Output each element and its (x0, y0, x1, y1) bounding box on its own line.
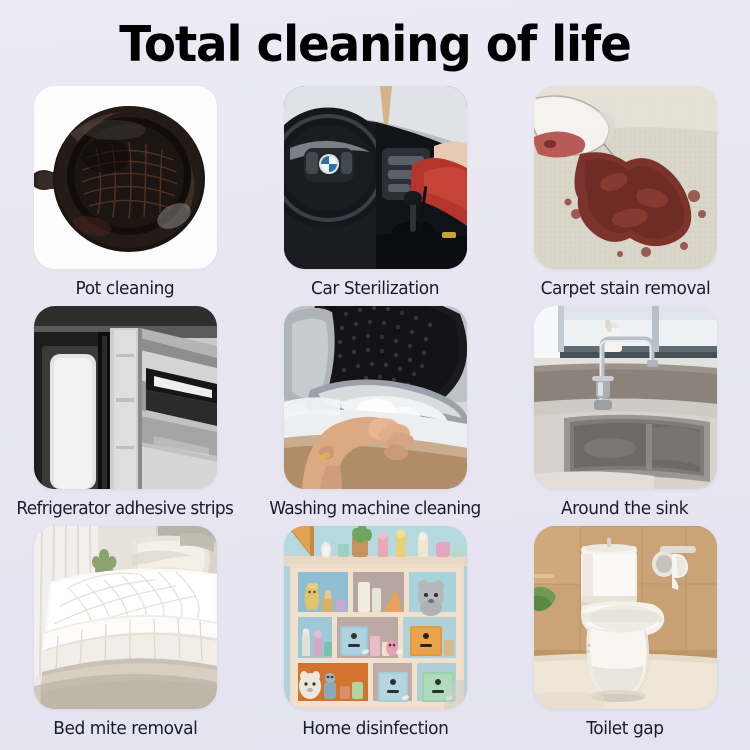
image-card-carpet-stain-removal[interactable] (534, 86, 717, 269)
grid-cell-pot-cleaning[interactable]: Pot cleaning (0, 86, 250, 306)
grid-cell-car-sterilization[interactable]: Car Sterilization (250, 86, 500, 306)
mattress-bed-icon (34, 526, 217, 709)
refrigerator-seal-icon (34, 306, 217, 489)
caption-car-sterilization: Car Sterilization (311, 278, 439, 300)
grid-cell-carpet-stain-removal[interactable]: Carpet stain removal (500, 86, 750, 306)
caption-around-the-sink: Around the sink (561, 498, 688, 520)
grid-cell-toilet-gap[interactable]: Toilet gap (500, 526, 750, 746)
grid-cell-washing-machine-cleaning[interactable]: Washing machine cleaning (250, 306, 500, 526)
burnt-pan-icon (34, 86, 217, 269)
grid-cell-around-the-sink[interactable]: Around the sink (500, 306, 750, 526)
image-card-bed-mite-removal[interactable] (34, 526, 217, 709)
image-card-car-sterilization[interactable] (284, 86, 467, 269)
image-card-pot-cleaning[interactable] (34, 86, 217, 269)
caption-washing-machine-cleaning: Washing machine cleaning (269, 498, 480, 520)
caption-pot-cleaning: Pot cleaning (76, 278, 175, 300)
washing-machine-gasket-icon (284, 306, 467, 489)
grid-cell-refrigerator-adhesive-strips[interactable]: Refrigerator adhesive strips (0, 306, 250, 526)
caption-refrigerator-adhesive-strips: Refrigerator adhesive strips (17, 498, 234, 520)
caption-bed-mite-removal: Bed mite removal (53, 718, 197, 740)
toilet-bathroom-icon (534, 526, 717, 709)
kitchen-sink-faucet-icon (534, 306, 717, 489)
caption-carpet-stain-removal: Carpet stain removal (540, 278, 710, 300)
image-card-around-the-sink[interactable] (534, 306, 717, 489)
image-card-refrigerator-adhesive-strips[interactable] (34, 306, 217, 489)
infographic-page: Total cleaning of life (0, 0, 750, 750)
page-title: Total cleaning of life (17, 14, 733, 76)
image-card-home-disinfection[interactable] (284, 526, 467, 709)
grid-cell-bed-mite-removal[interactable]: Bed mite removal (0, 526, 250, 746)
toy-shelf-cubby-icon (284, 526, 467, 709)
wine-stain-carpet-icon (534, 86, 717, 269)
car-interior-icon (284, 86, 467, 269)
image-card-washing-machine-cleaning[interactable] (284, 306, 467, 489)
grid-cell-home-disinfection[interactable]: Home disinfection (250, 526, 500, 746)
image-card-toilet-gap[interactable] (534, 526, 717, 709)
caption-toilet-gap: Toilet gap (586, 718, 663, 740)
use-case-grid: Pot cleaning (0, 86, 750, 746)
caption-home-disinfection: Home disinfection (302, 718, 448, 740)
